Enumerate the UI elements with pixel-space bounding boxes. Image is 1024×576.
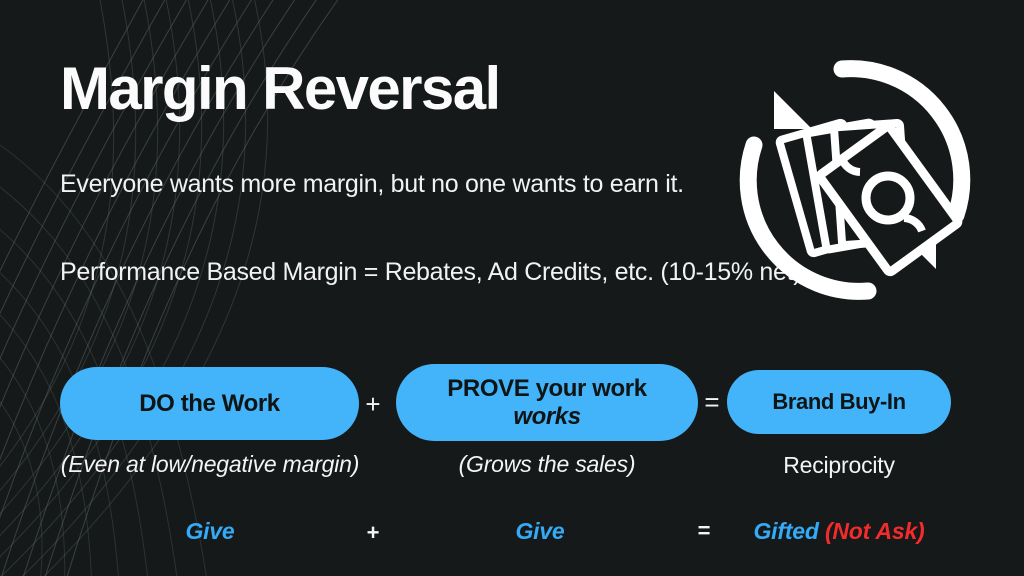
summary-result-word: Gifted bbox=[753, 518, 818, 544]
operator-equals-top: = bbox=[697, 387, 727, 418]
slide-canvas: Margin Reversal Everyone wants more marg… bbox=[0, 0, 1024, 576]
operator-plus-top: + bbox=[358, 389, 388, 420]
caption-brand-buy-in: Reciprocity bbox=[727, 451, 951, 480]
summary-give-middle: Give bbox=[440, 518, 640, 545]
pill-do-the-work-label: DO the Work bbox=[139, 390, 280, 418]
money-recycle-icon bbox=[730, 55, 980, 305]
pill-prove-your-work-label: PROVE your work bbox=[447, 375, 646, 403]
operator-plus-bottom: + bbox=[358, 520, 388, 546]
definition-paragraph: Performance Based Margin = Rebates, Ad C… bbox=[60, 256, 801, 289]
page-title: Margin Reversal bbox=[60, 57, 500, 120]
caption-prove-your-work: (Grows the sales) bbox=[396, 450, 698, 479]
intro-paragraph: Everyone wants more margin, but no one w… bbox=[60, 168, 684, 201]
summary-result-note: (Not Ask) bbox=[825, 518, 925, 544]
pill-prove-your-work-emphasis: works bbox=[513, 403, 580, 431]
pill-prove-your-work[interactable]: PROVE your work works bbox=[396, 364, 698, 441]
pill-do-the-work[interactable]: DO the Work bbox=[60, 367, 359, 440]
summary-give-left: Give bbox=[110, 518, 310, 545]
pill-brand-buy-in-label: Brand Buy-In bbox=[772, 389, 905, 415]
summary-result: Gifted (Not Ask) bbox=[715, 518, 963, 545]
pill-brand-buy-in[interactable]: Brand Buy-In bbox=[727, 370, 951, 434]
caption-do-the-work: (Even at low/negative margin) bbox=[55, 450, 365, 479]
